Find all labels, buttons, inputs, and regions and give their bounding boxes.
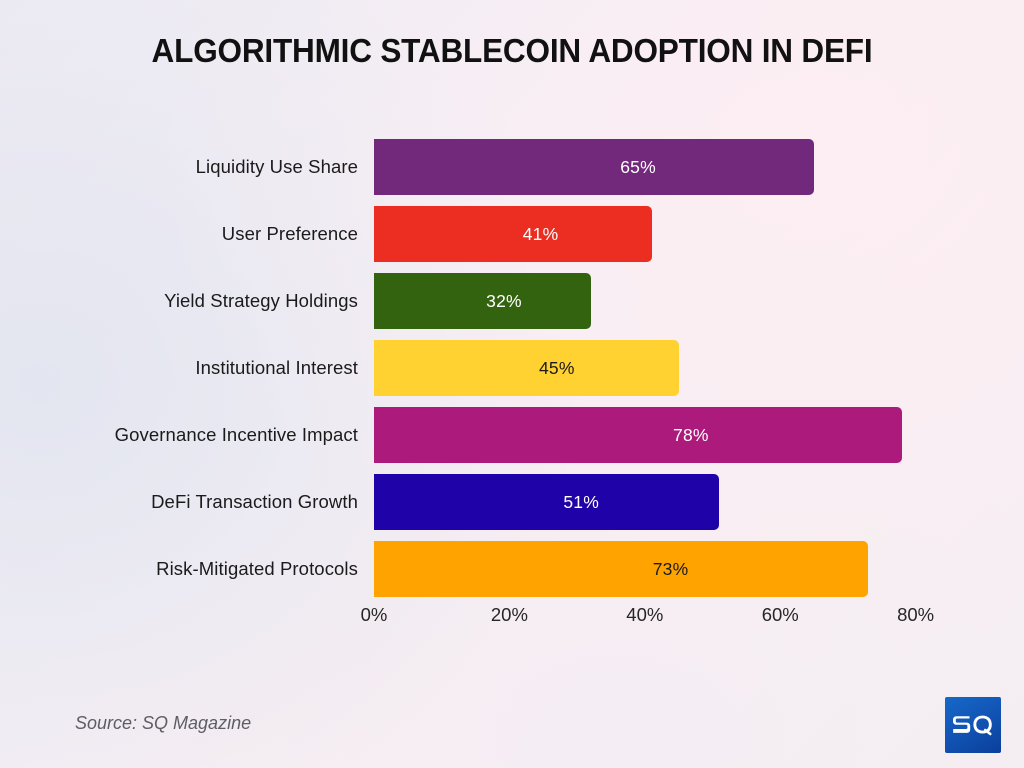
page-title: ALGORITHMIC STABLECOIN ADOPTION IN DEFI [23, 31, 1001, 71]
bar[interactable] [374, 541, 868, 597]
bar-value-label: 45% [539, 340, 575, 396]
sq-logo-icon [952, 713, 994, 737]
bar-row: Institutional Interest45% [374, 340, 940, 396]
bar[interactable] [374, 139, 814, 195]
bar-category-label: Risk-Mitigated Protocols [156, 541, 358, 597]
x-axis-tick-label: 20% [491, 604, 528, 626]
bar-row: Governance Incentive Impact78% [374, 407, 940, 463]
bar-category-label: Institutional Interest [195, 340, 358, 396]
bar-category-label: Yield Strategy Holdings [164, 273, 358, 329]
bar[interactable] [374, 340, 679, 396]
bar-category-label: User Preference [222, 206, 358, 262]
bar-value-label: 41% [523, 206, 559, 262]
bar[interactable] [374, 407, 902, 463]
bar[interactable] [374, 474, 719, 530]
bar[interactable] [374, 206, 652, 262]
bar-value-label: 51% [563, 474, 599, 530]
bar-row: Yield Strategy Holdings32% [374, 273, 940, 329]
bar-category-label: Liquidity Use Share [196, 139, 358, 195]
chart-canvas: ALGORITHMIC STABLECOIN ADOPTION IN DEFI … [0, 0, 1024, 768]
x-axis: 0%20%40%60%80% [374, 604, 940, 634]
x-axis-tick-label: 60% [762, 604, 799, 626]
x-axis-tick-label: 40% [626, 604, 663, 626]
bar-chart-plot-area: Liquidity Use Share65%User Preference41%… [374, 139, 940, 603]
bar-value-label: 65% [620, 139, 656, 195]
bar-value-label: 32% [486, 273, 522, 329]
x-axis-tick-label: 80% [897, 604, 934, 626]
bar-value-label: 73% [653, 541, 689, 597]
bar[interactable] [374, 273, 591, 329]
bar-row: DeFi Transaction Growth51% [374, 474, 940, 530]
bar-value-label: 78% [673, 407, 709, 463]
sq-magazine-logo [945, 697, 1001, 753]
bar-category-label: DeFi Transaction Growth [151, 474, 358, 530]
bar-category-label: Governance Incentive Impact [115, 407, 358, 463]
bar-row: User Preference41% [374, 206, 940, 262]
source-note: Source: SQ Magazine [75, 713, 251, 734]
bar-row: Risk-Mitigated Protocols73% [374, 541, 940, 597]
bar-row: Liquidity Use Share65% [374, 139, 940, 195]
x-axis-tick-label: 0% [361, 604, 388, 626]
